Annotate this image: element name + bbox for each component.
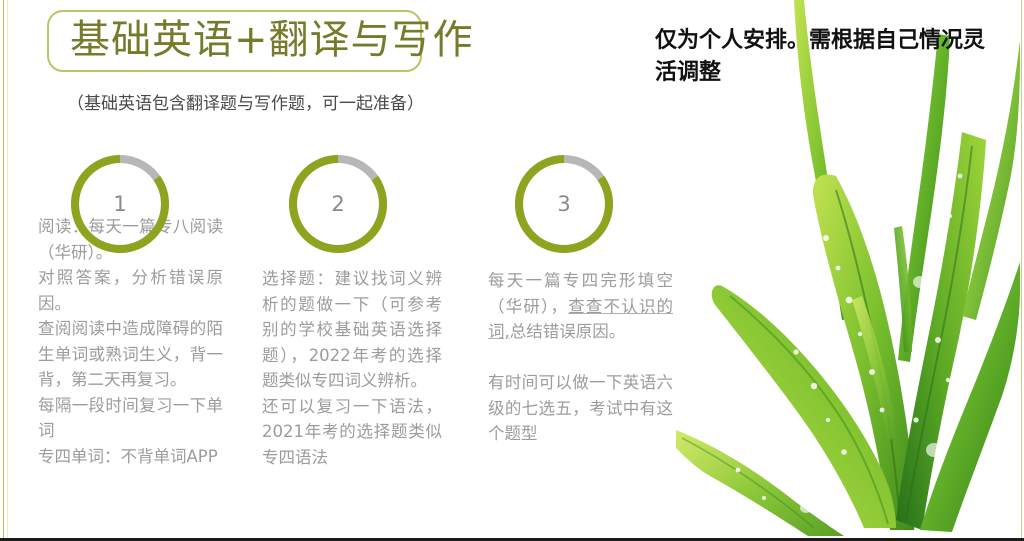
step-number-1: 1	[66, 150, 174, 258]
progress-ring-3: 3	[510, 150, 618, 258]
step-column-3: 3 每天一篇专四完形填空（华研），查查不认识的词,总结错误原因。 有时间可以做一…	[488, 150, 673, 447]
right-edge-line	[1021, 0, 1022, 541]
step-text-2: 选择题：建议找词义辨析的题做一下（可参考别的学校基础英语选择题），2022年考的…	[262, 266, 442, 470]
progress-ring-2: 2	[284, 150, 392, 258]
left-edge-line-secondary	[7, 0, 8, 541]
step-text-3-after: 总结错误原因。 有时间可以做一下英语六级的七选五，考试中有这个题型	[488, 322, 673, 443]
page-title: 基础英语+翻译与写作	[70, 13, 474, 67]
left-edge-line	[3, 0, 4, 541]
slide-canvas: 基础英语+翻译与写作 （基础英语包含翻译题与写作题，可一起准备） 仅为个人安排。…	[0, 0, 1024, 541]
step-column-1: 1 阅读：每天一篇专八阅读（华研）。 对照答案，分析错误原因。 查阅阅读中造成障…	[38, 150, 223, 469]
step-text-3: 每天一篇专四完形填空（华研），查查不认识的词,总结错误原因。 有时间可以做一下英…	[488, 268, 673, 447]
step-column-2: 2 选择题：建议找词义辨析的题做一下（可参考别的学校基础英语选择题），2022年…	[262, 150, 442, 470]
page-subtitle: （基础英语包含翻译题与写作题，可一起准备）	[67, 89, 424, 114]
personal-note: 仅为个人安排。需根据自己情况灵活调整	[655, 25, 985, 89]
step-number-2: 2	[284, 150, 392, 258]
progress-ring-1: 1	[66, 150, 174, 258]
step-number-3: 3	[510, 150, 618, 258]
